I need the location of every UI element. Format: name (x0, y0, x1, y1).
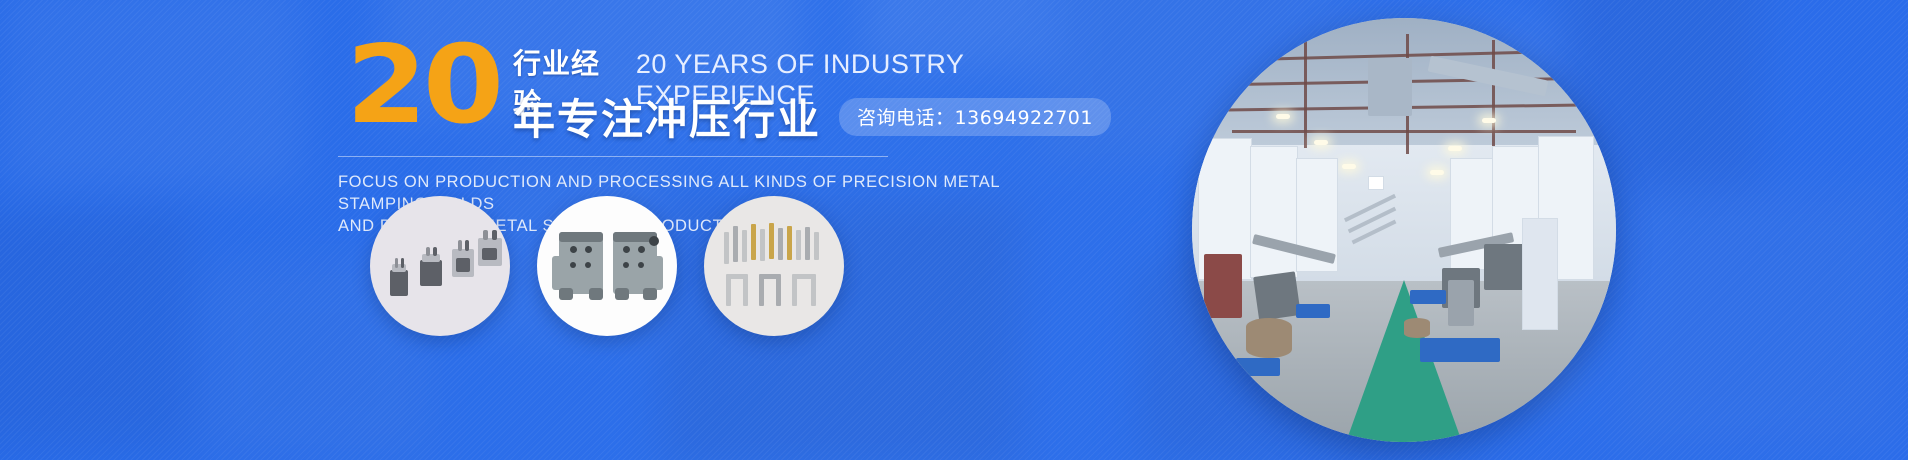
headline-text: 行业经验 20 YEARS OF INDUSTRY EXPERIENCE 年专注… (513, 42, 1128, 147)
headline-row: 20 行业经验 20 YEARS OF INDUSTRY EXPERIENCE … (338, 42, 1128, 142)
headline-cn-big: 年专注冲压行业 (513, 86, 821, 147)
years-number: 20 (346, 36, 500, 136)
product-circle-connectors[interactable] (370, 196, 510, 336)
headline-divider (338, 156, 888, 157)
product-circle-stamping-die[interactable] (537, 196, 677, 336)
headline-line-1: 行业经验 20 YEARS OF INDUSTRY EXPERIENCE (513, 42, 1128, 82)
factory-photo-circle[interactable] (1192, 18, 1616, 442)
phone-badge[interactable]: 咨询电话：13694922701 (839, 98, 1111, 136)
product-circle-terminal-pins[interactable] (704, 196, 844, 336)
promo-banner: 20 行业经验 20 YEARS OF INDUSTRY EXPERIENCE … (0, 0, 1908, 460)
